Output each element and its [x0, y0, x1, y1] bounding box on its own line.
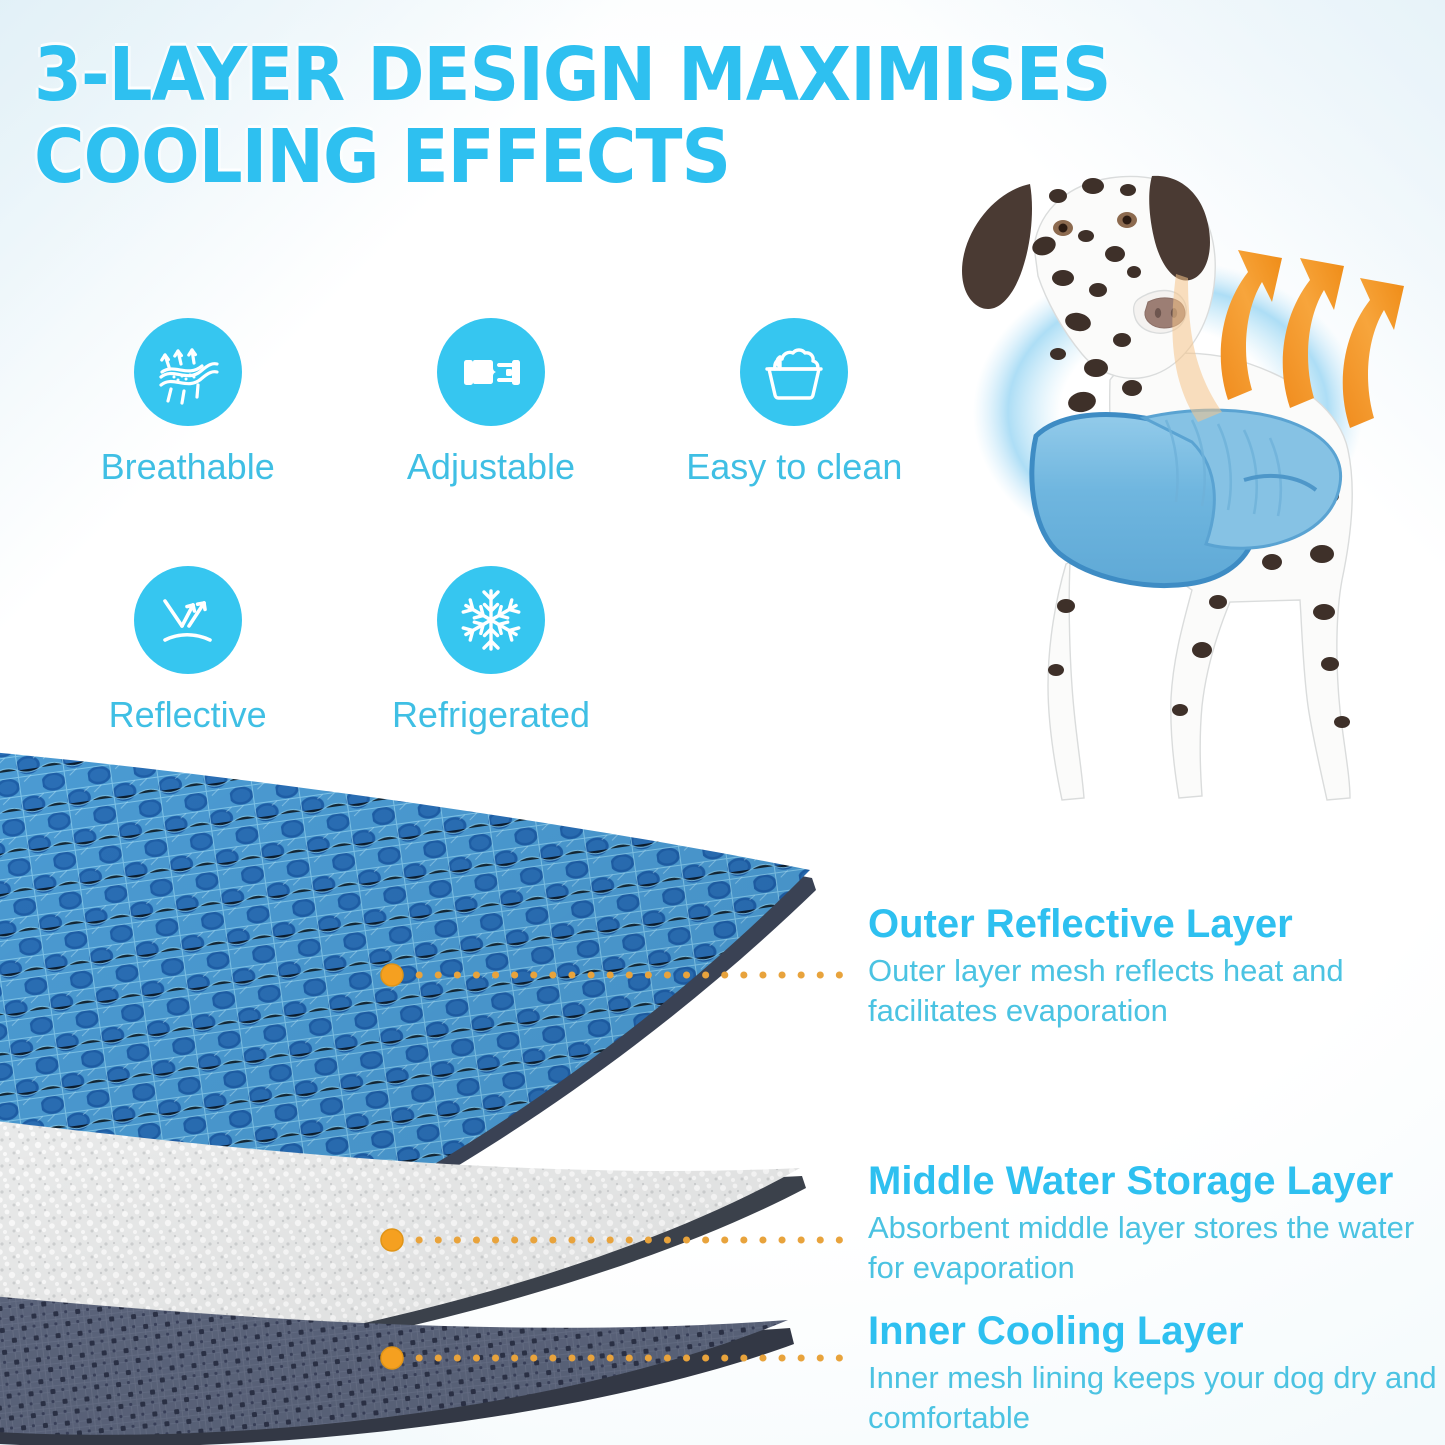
feature-list: Breathable Adj: [36, 318, 946, 736]
dalmatian-illustration: [930, 150, 1445, 870]
feature-reflective: Reflective: [36, 566, 339, 736]
callout-heading: Inner Cooling Layer: [868, 1310, 1445, 1352]
feature-label: Breathable: [101, 446, 275, 488]
product-infographic: 3-Layer Design Maximises Cooling Effects: [0, 0, 1445, 1445]
feature-easy-to-clean: Easy to clean: [643, 318, 946, 488]
feature-label: Reflective: [109, 694, 267, 736]
snowflake-icon: [437, 566, 545, 674]
reflected-rays-icon: [134, 566, 242, 674]
fabric-layer-diagram: [0, 740, 870, 1445]
callout-outer-reflective-layer: Outer Reflective Layer Outer layer mesh …: [868, 903, 1445, 1030]
wash-basin-suds-icon: [740, 318, 848, 426]
product-photo-dog-wearing-vest: [930, 150, 1445, 870]
feature-label: Refrigerated: [392, 694, 590, 736]
feature-refrigerated: Refrigerated: [339, 566, 642, 736]
feature-label: Adjustable: [407, 446, 575, 488]
callout-heading: Outer Reflective Layer: [868, 903, 1445, 945]
callout-body: Inner mesh lining keeps your dog dry and…: [868, 1358, 1445, 1437]
callout-body: Absorbent middle layer stores the water …: [868, 1208, 1445, 1287]
buckle-clip-icon: [437, 318, 545, 426]
breathable-fabric-airflow-icon: [134, 318, 242, 426]
title-line-1: 3-Layer Design Maximises: [34, 40, 1076, 110]
callout-heading: Middle Water Storage Layer: [868, 1160, 1445, 1202]
callout-inner-cooling-layer: Inner Cooling Layer Inner mesh lining ke…: [868, 1310, 1445, 1437]
feature-spacer: [643, 566, 946, 736]
callout-body: Outer layer mesh reflects heat and facil…: [868, 951, 1445, 1030]
dog-ear-left: [962, 184, 1032, 309]
page-title: 3-Layer Design Maximises Cooling Effects: [34, 40, 1076, 193]
feature-adjustable: Adjustable: [339, 318, 642, 488]
callout-middle-water-storage-layer: Middle Water Storage Layer Absorbent mid…: [868, 1160, 1445, 1287]
title-line-2: Cooling Effects: [34, 122, 1076, 192]
feature-breathable: Breathable: [36, 318, 339, 488]
feature-label: Easy to clean: [686, 446, 902, 488]
